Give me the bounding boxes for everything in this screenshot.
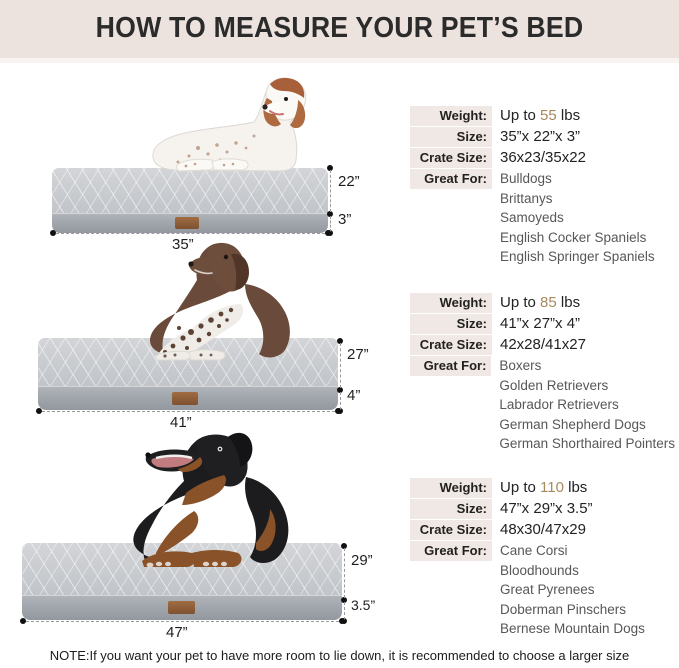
breed-item: Samoyeds bbox=[500, 208, 655, 228]
dog-photo-brittany-spaniel bbox=[120, 74, 330, 179]
dim-dot-length-right bbox=[325, 230, 331, 236]
spec-row-size: Size: 41”x 27”x 4” bbox=[410, 314, 675, 334]
spec-label-size: Size: bbox=[410, 499, 492, 519]
weight-prefix: Up to bbox=[500, 107, 536, 124]
dim-label-length: 47” bbox=[166, 624, 188, 641]
brand-leather-tag bbox=[168, 601, 195, 614]
weight-number: 85 bbox=[540, 294, 557, 311]
spec-row-size: Size: 35”x 22”x 3” bbox=[410, 127, 675, 147]
spec-row-great-for: Great For: Cane Corsi Bloodhounds Great … bbox=[410, 541, 675, 639]
dim-line-height bbox=[330, 216, 331, 232]
page-title: HOW TO MEASURE YOUR PET’S BED bbox=[27, 12, 652, 45]
breed-item: Labrador Retrievers bbox=[499, 395, 675, 415]
weight-suffix: lbs bbox=[568, 479, 587, 496]
dim-dot-length-right bbox=[335, 408, 341, 414]
dog-photo-doberman-pinscher bbox=[60, 433, 305, 573]
spec-label-size: Size: bbox=[410, 314, 492, 334]
spec-value-weight: Up to 85 lbs bbox=[492, 293, 580, 313]
breed-item: Cane Corsi bbox=[500, 541, 645, 561]
spec-row-weight: Weight: Up to 55 lbs bbox=[410, 106, 675, 126]
dim-line-length bbox=[42, 411, 335, 412]
dim-label-width: 22” bbox=[338, 173, 360, 190]
spec-value-crate-size: 36x23/35x22 bbox=[492, 148, 586, 168]
spec-label-great-for: Great For: bbox=[410, 169, 492, 189]
dim-label-width: 27” bbox=[347, 346, 369, 363]
footer-note: NOTE:If you want your pet to have more r… bbox=[0, 648, 679, 663]
spec-label-crate-size: Crate Size: bbox=[410, 335, 492, 355]
spec-label-size: Size: bbox=[410, 127, 492, 147]
size-section-medium: 27” 4” 41” Weight: Up to 85 lbs Size: 41… bbox=[0, 240, 679, 420]
header-divider bbox=[0, 58, 679, 63]
brand-leather-tag bbox=[172, 392, 198, 405]
dim-line-length bbox=[56, 233, 325, 234]
weight-suffix: lbs bbox=[561, 294, 580, 311]
breed-item: Bernese Mountain Dogs bbox=[500, 619, 645, 639]
size-section-large: 29” 3.5” 47” Weight: Up to 110 lbs Size:… bbox=[0, 425, 679, 640]
dim-label-height: 3” bbox=[338, 211, 351, 228]
spec-value-crate-size: 42x28/41x27 bbox=[492, 335, 586, 355]
spec-row-crate-size: Crate Size: 48x30/47x29 bbox=[410, 520, 675, 540]
dim-line-height bbox=[344, 602, 345, 620]
breed-item: Golden Retrievers bbox=[499, 376, 675, 396]
weight-suffix: lbs bbox=[561, 107, 580, 124]
dim-line-depth bbox=[330, 170, 331, 212]
spec-label-great-for: Great For: bbox=[410, 541, 492, 561]
size-section-small: 22” 3” 35” Weight: Up to 55 lbs Size: 35… bbox=[0, 70, 679, 235]
dim-line-length bbox=[26, 621, 339, 622]
spec-value-weight: Up to 55 lbs bbox=[492, 106, 580, 126]
dim-label-height: 4” bbox=[347, 387, 360, 404]
breed-item: Great Pyrenees bbox=[500, 580, 645, 600]
spec-row-size: Size: 47”x 29”x 3.5” bbox=[410, 499, 675, 519]
weight-number: 55 bbox=[540, 107, 557, 124]
breed-item: Boxers bbox=[499, 356, 675, 376]
breed-list: Cane Corsi Bloodhounds Great Pyrenees Do… bbox=[492, 541, 645, 639]
spec-value-crate-size: 48x30/47x29 bbox=[492, 520, 586, 540]
spec-row-weight: Weight: Up to 85 lbs bbox=[410, 293, 675, 313]
spec-label-weight: Weight: bbox=[410, 293, 492, 313]
spec-value-size: 35”x 22”x 3” bbox=[492, 127, 580, 147]
dim-label-width: 29” bbox=[351, 552, 373, 569]
spec-label-weight: Weight: bbox=[410, 478, 492, 498]
weight-prefix: Up to bbox=[500, 479, 536, 496]
spec-value-weight: Up to 110 lbs bbox=[492, 478, 587, 498]
breed-item: Bulldogs bbox=[500, 169, 655, 189]
spec-row-crate-size: Crate Size: 42x28/41x27 bbox=[410, 335, 675, 355]
breed-item: Bloodhounds bbox=[500, 561, 645, 581]
dim-line-depth bbox=[340, 343, 341, 388]
breed-item: Doberman Pinschers bbox=[500, 600, 645, 620]
spec-label-weight: Weight: bbox=[410, 106, 492, 126]
spec-value-size: 41”x 27”x 4” bbox=[492, 314, 580, 334]
breed-item: Brittanys bbox=[500, 189, 655, 209]
dog-photo-german-shorthaired-pointer bbox=[95, 240, 310, 365]
spec-value-size: 47”x 29”x 3.5” bbox=[492, 499, 593, 519]
spec-row-weight: Weight: Up to 110 lbs bbox=[410, 478, 675, 498]
dim-line-depth bbox=[344, 548, 345, 598]
spec-label-crate-size: Crate Size: bbox=[410, 520, 492, 540]
spec-row-crate-size: Crate Size: 36x23/35x22 bbox=[410, 148, 675, 168]
weight-number: 110 bbox=[540, 479, 564, 496]
dim-line-height bbox=[340, 392, 341, 410]
weight-prefix: Up to bbox=[500, 294, 536, 311]
spec-panel-large: Weight: Up to 110 lbs Size: 47”x 29”x 3.… bbox=[410, 478, 675, 640]
spec-label-crate-size: Crate Size: bbox=[410, 148, 492, 168]
brand-leather-tag bbox=[175, 217, 199, 229]
dim-label-height: 3.5” bbox=[351, 597, 375, 613]
dim-dot-length-right bbox=[339, 618, 345, 624]
spec-label-great-for: Great For: bbox=[410, 356, 491, 376]
